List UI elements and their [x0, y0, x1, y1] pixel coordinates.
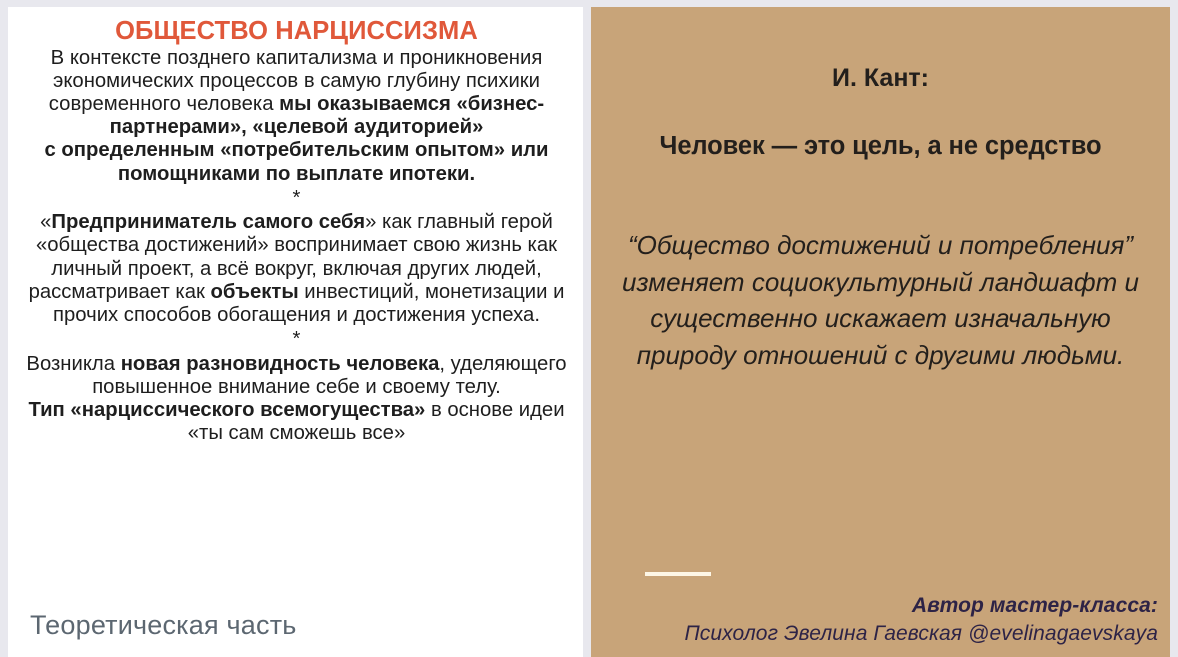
- paragraph-three-bold-a: новая разновидность человека: [121, 353, 440, 375]
- divider-rule: [645, 572, 711, 576]
- paragraph-two-bold-b: объекты: [211, 281, 299, 303]
- author-name-handle: Психолог Эвелина Гаевская @evelinagaevsk…: [598, 620, 1158, 647]
- paragraph-three: Возникла новая разновидность человека, у…: [20, 353, 573, 446]
- separator-asterisk-one: *: [20, 186, 573, 211]
- paragraph-one: В контексте позднего капитализма и прони…: [20, 47, 573, 186]
- left-text-panel: ОБЩЕСТВО НАРЦИССИЗМА В контексте позднег…: [8, 7, 583, 657]
- kant-attribution: И. Кант:: [613, 63, 1148, 93]
- paragraph-one-bold-b: с определенным «потребительским опытом» …: [44, 139, 548, 184]
- paragraph-three-normal-a: Возникла: [26, 353, 120, 375]
- author-credit-block: Автор мастер-класса: Психолог Эвелина Га…: [598, 593, 1158, 647]
- paragraph-three-bold-b: Тип «нарциссического всемогущества»: [28, 399, 425, 421]
- author-role-label: Автор мастер-класса:: [598, 593, 1158, 619]
- kant-quote: Человек — это цель, а не средство: [613, 131, 1148, 162]
- section-label: Теоретическая часть: [30, 611, 297, 641]
- paragraph-two-bold-a: Предприниматель самого себя: [51, 211, 365, 233]
- slide-title: ОБЩЕСТВО НАРЦИССИЗМА: [20, 18, 573, 46]
- slide-canvas: ОБЩЕСТВО НАРЦИССИЗМА В контексте позднег…: [0, 0, 1178, 657]
- paragraph-two-quote-open: «: [40, 211, 51, 233]
- separator-asterisk-two: *: [20, 327, 573, 352]
- right-quote-panel: И. Кант: Человек — это цель, а не средст…: [591, 7, 1170, 657]
- paragraph-two: «Предприниматель самого себя» как главны…: [20, 211, 573, 327]
- society-quote: “Общество достижений и потребления” изме…: [613, 227, 1148, 375]
